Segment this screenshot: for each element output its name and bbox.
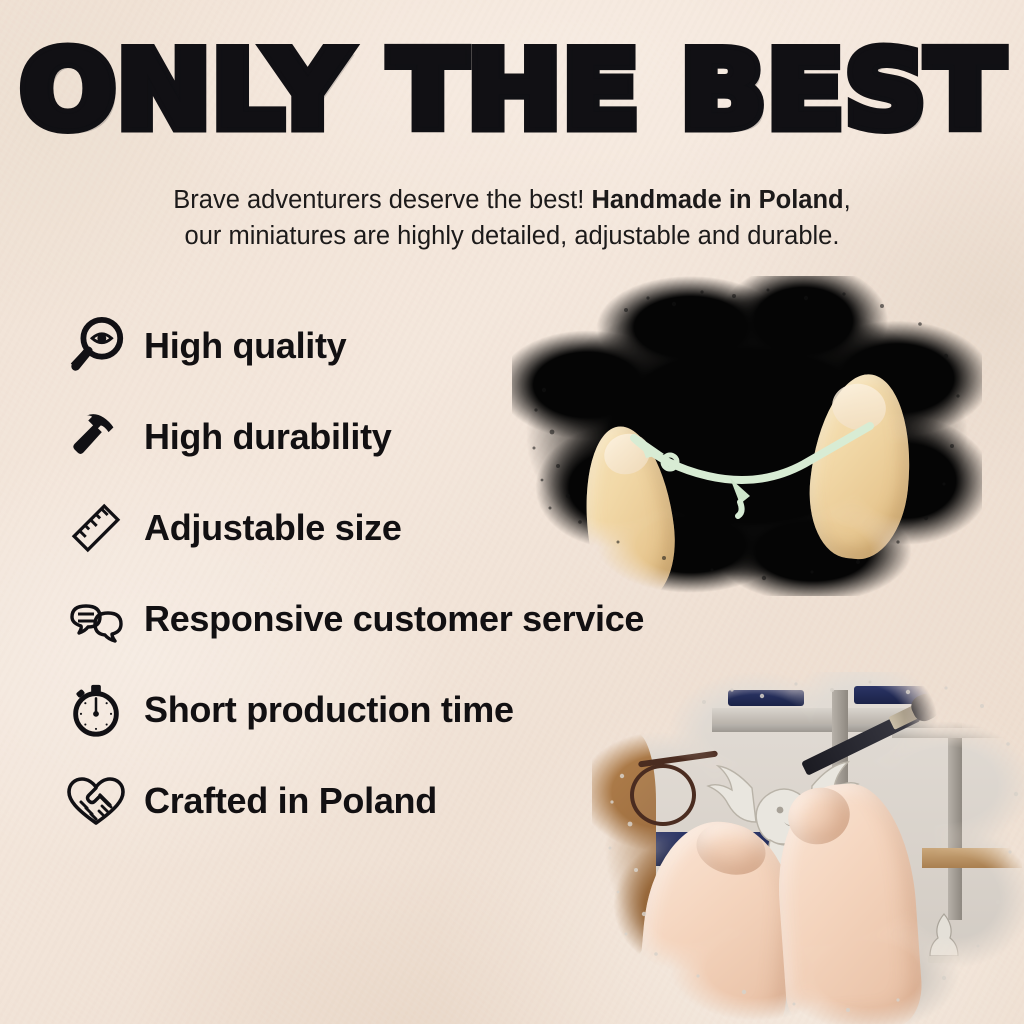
small-miniature xyxy=(922,908,966,968)
handshake-heart-icon xyxy=(62,767,130,835)
workshop-photo-image xyxy=(592,672,1024,1024)
hammer-icon xyxy=(62,403,130,471)
feature-label: High durability xyxy=(144,416,392,458)
title-block: ONLY THE BEST xyxy=(0,38,1024,144)
speech-bubbles-icon xyxy=(62,585,130,653)
durability-photo xyxy=(512,276,982,596)
feature-label: High quality xyxy=(144,325,346,367)
parts-tray-1 xyxy=(728,690,804,706)
promo-graphic: ONLY THE BEST Brave adventurers deserve … xyxy=(0,0,1024,1024)
miniature-part xyxy=(622,416,882,536)
parts-tray-3 xyxy=(964,690,1020,706)
feature-label: Responsive customer service xyxy=(144,598,644,640)
shelf-second xyxy=(892,728,1024,738)
eyeglasses-lens-left xyxy=(630,764,696,826)
page-title: ONLY THE BEST xyxy=(20,38,1004,144)
magnifier-eye-icon xyxy=(62,312,130,380)
shelf-post-right xyxy=(948,690,962,920)
subtitle-bold: Handmade in Poland xyxy=(591,186,843,214)
subtitle-comma: , xyxy=(844,186,851,214)
feature-label: Short production time xyxy=(144,689,514,731)
feature-label: Crafted in Poland xyxy=(144,780,437,822)
shelf-top xyxy=(712,708,1024,724)
work-board xyxy=(922,848,1022,868)
workshop-photo xyxy=(592,672,1024,1024)
parts-tray-2 xyxy=(854,686,958,704)
durability-photo-image xyxy=(512,276,982,596)
feature-label: Adjustable size xyxy=(144,507,402,549)
subtitle-line2: our miniatures are highly detailed, adju… xyxy=(185,222,840,250)
stopwatch-icon xyxy=(62,676,130,744)
subtitle-lead: Brave adventurers deserve the best! xyxy=(173,186,584,214)
ruler-icon xyxy=(62,494,130,562)
subtitle: Brave adventurers deserve the best! Hand… xyxy=(92,182,932,254)
